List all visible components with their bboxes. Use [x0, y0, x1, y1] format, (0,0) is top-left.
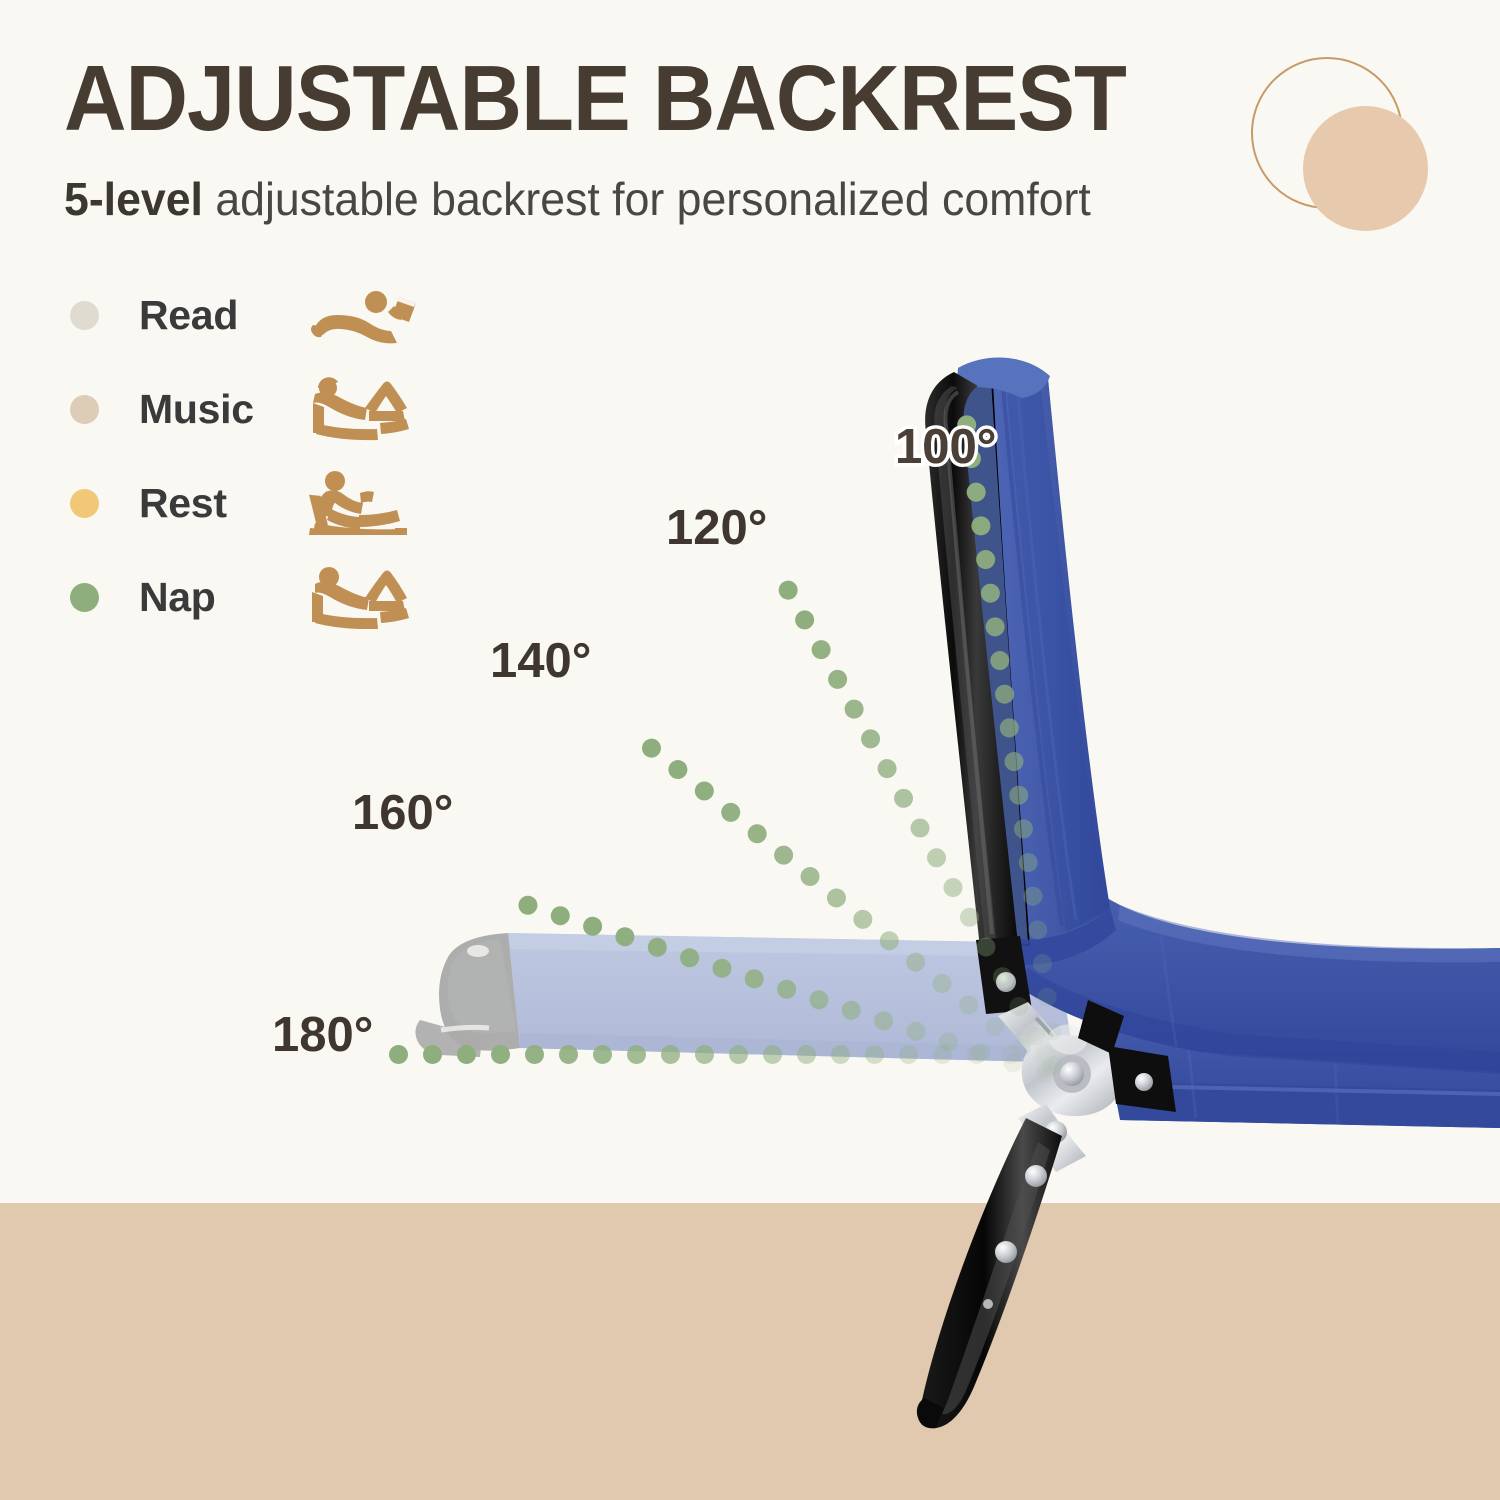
feature-label-rest: Rest: [139, 480, 307, 527]
feature-item-nap: Nap: [62, 550, 482, 644]
feature-label-read: Read: [139, 292, 307, 339]
angle-ray-180: [378, 1045, 1058, 1065]
feature-item-read: Read: [62, 268, 482, 362]
page-subtitle: 5-level adjustable backrest for personal…: [64, 176, 1091, 222]
product-illustration: [0, 0, 1500, 1500]
bullet-dot-read: [70, 301, 99, 330]
feature-label-nap: Nap: [139, 574, 307, 621]
person-reclining-headphones-icon: [307, 377, 417, 441]
rear-leg: [917, 1118, 1062, 1428]
person-lying-reading-icon: [307, 283, 417, 347]
bullet-dot-rest: [70, 489, 99, 518]
angle-label-140: 140°: [490, 633, 591, 689]
bullet-dot-nap: [70, 583, 99, 612]
feature-list: Read Music: [62, 268, 482, 644]
feature-item-rest: Rest: [62, 456, 482, 550]
person-sitting-lounger-icon: [307, 471, 417, 535]
person-reclined-napping-icon: [307, 565, 417, 629]
bullet-dot-music: [70, 395, 99, 424]
angle-label-100: 100° 100°: [895, 419, 996, 475]
page-title: ADJUSTABLE BACKREST: [64, 52, 1126, 145]
subtitle-rest: adjustable backrest for personalized com…: [203, 173, 1091, 225]
angle-label-180: 180°: [272, 1007, 373, 1063]
infographic-canvas: ADJUSTABLE BACKREST 5-level adjustable b…: [0, 0, 1500, 1500]
feature-label-music: Music: [139, 386, 307, 433]
angle-label-120: 120°: [666, 500, 767, 556]
angle-label-160: 160°: [352, 785, 453, 841]
subtitle-strong: 5-level: [64, 173, 203, 225]
feature-item-music: Music: [62, 362, 482, 456]
